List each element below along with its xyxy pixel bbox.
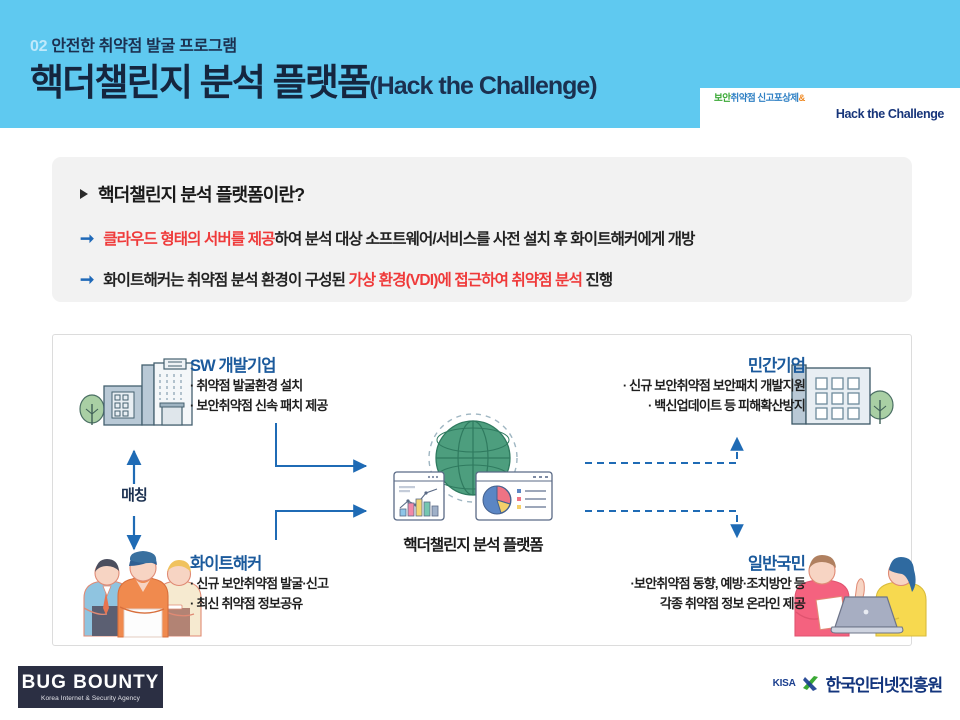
bug-bounty-logo: BUG BOUNTY Korea Internet & Security Age… <box>18 666 163 708</box>
info-bullet-1-rest: 하여 분석 대상 소프트웨어/서비스를 사전 설치 후 화이트해커에게 개방 <box>275 231 695 248</box>
info-heading: 핵더챌린지 분석 플랫폼이란? <box>98 181 304 207</box>
slide-header: 02 안전한 취약점 발굴 프로그램 핵더챌린지 분석 플랫폼 (Hack th… <box>0 0 960 128</box>
kicker-number: 02 <box>30 38 47 55</box>
brand-logo-line2: Hack the Challenge <box>714 106 944 122</box>
page-title-english: (Hack the Challenge) <box>369 74 596 101</box>
node-white-hacker: 화이트해커 · 신규 보안취약점 발굴·신고 · 최신 취약점 정보공유 <box>190 550 328 614</box>
node-private-company-item-0: · 신규 보안취약점 보안패치 개발지원 <box>623 376 805 396</box>
info-bullet-1: ➞ 클라우드 형태의 서버를 제공하여 분석 대상 소프트웨어/서비스를 사전 … <box>80 227 884 249</box>
node-general-public-item-1: 각종 취약점 정보 온라인 제공 <box>630 594 805 614</box>
node-general-public-title: 일반국민 <box>630 550 805 574</box>
brand-logo-line1: 보안취약점 신고포상제& <box>714 93 944 105</box>
info-heading-row: 핵더챌린지 분석 플랫폼이란? <box>80 181 884 207</box>
bug-bounty-logo-text: BUG BOUNTY <box>22 673 160 692</box>
section-kicker: 02 안전한 취약점 발굴 프로그램 <box>30 32 237 56</box>
page-title-korean: 핵더챌린지 분석 플랫폼 <box>30 64 369 101</box>
triangle-bullet-icon <box>80 189 88 199</box>
arrow-bullet-icon: ➞ <box>80 230 94 247</box>
brand-logo: 보안취약점 신고포상제& Hack the Challenge <box>700 88 960 128</box>
matching-label: 매칭 <box>102 484 166 505</box>
node-white-hacker-title: 화이트해커 <box>190 550 328 574</box>
kicker-text: 안전한 취약점 발굴 프로그램 <box>51 38 236 55</box>
node-sw-company-item-0: · 취약점 발굴환경 설치 <box>190 376 328 396</box>
brand-word-program: 취약점 신고포상제 <box>730 93 798 104</box>
node-general-public-item-0: ·보안취약점 동향, 예방·조치방안 등 <box>630 574 805 594</box>
arrow-bullet-icon: ➞ <box>80 271 94 288</box>
brand-ampersand: & <box>799 93 805 104</box>
node-sw-company-item-1: · 보안취약점 신속 패치 제공 <box>190 396 328 416</box>
kisa-logo-mark: KISA <box>773 678 796 689</box>
node-private-company-item-1: · 백신업데이트 등 피해확산방지 <box>623 396 805 416</box>
brand-word-security: 보안 <box>714 93 730 104</box>
info-bullet-2-highlight: 가상 환경(VDI)에 접근하여 취약점 분석 <box>349 272 582 289</box>
kisa-logo-korean: 한국인터넷진흥원 <box>826 671 942 696</box>
page-title: 핵더챌린지 분석 플랫폼 (Hack the Challenge) <box>30 64 597 101</box>
node-sw-company: SW 개발기업 · 취약점 발굴환경 설치 · 보안취약점 신속 패치 제공 <box>190 352 328 416</box>
info-bullet-2-prefix: 화이트해커는 취약점 분석 환경이 구성된 <box>103 272 348 289</box>
kisa-swoosh-icon <box>801 674 821 694</box>
bug-bounty-logo-subtitle: Korea Internet & Security Agency <box>41 695 140 702</box>
platform-caption: 핵더챌린지 분석 플랫폼 <box>378 533 568 555</box>
kisa-logo: KISA 한국인터넷진흥원 <box>773 671 942 696</box>
node-private-company: 민간기업 · 신규 보안취약점 보안패치 개발지원 · 백신업데이트 등 피해확… <box>623 352 805 416</box>
info-bullet-1-highlight: 클라우드 형태의 서버를 제공 <box>103 231 274 248</box>
node-general-public: 일반국민 ·보안취약점 동향, 예방·조치방안 등 각종 취약점 정보 온라인 … <box>630 550 805 614</box>
node-private-company-title: 민간기업 <box>623 352 805 376</box>
info-box: 핵더챌린지 분석 플랫폼이란? ➞ 클라우드 형태의 서버를 제공하여 분석 대… <box>52 157 912 302</box>
node-sw-company-title: SW 개발기업 <box>190 352 328 376</box>
info-bullet-2: ➞ 화이트해커는 취약점 분석 환경이 구성된 가상 환경(VDI)에 접근하여… <box>80 268 884 290</box>
node-white-hacker-item-1: · 최신 취약점 정보공유 <box>190 594 328 614</box>
info-bullet-2-suffix: 진행 <box>582 272 612 289</box>
node-white-hacker-item-0: · 신규 보안취약점 발굴·신고 <box>190 574 328 594</box>
